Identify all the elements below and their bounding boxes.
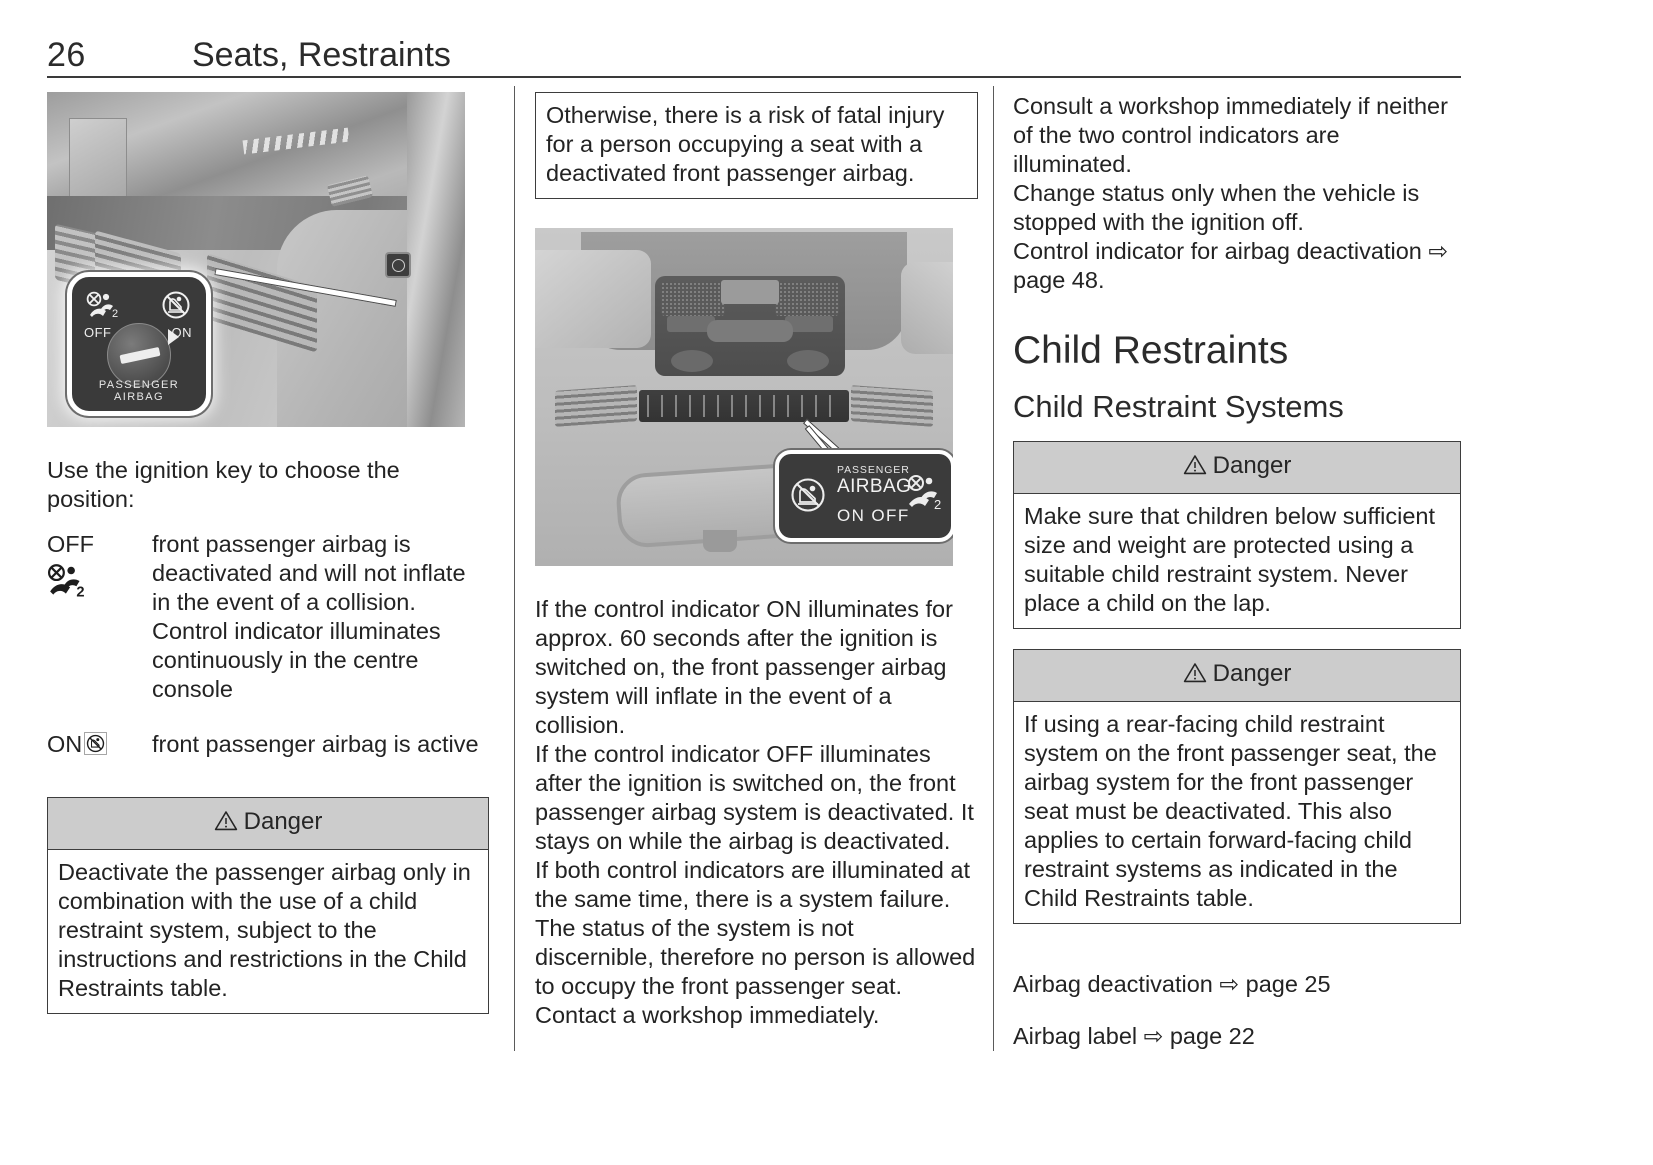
paragraph-indicator-on: If the control indicator ON illuminates … [535, 595, 978, 740]
heading-child-restraint-systems: Child Restraint Systems [1013, 389, 1461, 425]
infotainment-screen [69, 118, 127, 198]
door-pillar [407, 92, 465, 427]
definition-term-off: OFF 2 [47, 530, 152, 606]
danger-header-col3-1: Danger [1014, 442, 1460, 494]
intro-line-2: position: [47, 485, 489, 514]
term-label-on: ON [47, 731, 82, 757]
control-indicator-strip [639, 390, 849, 422]
badge-line-passenger: PASSENGER [837, 464, 910, 476]
definition-term-on: ON [47, 730, 152, 762]
term-label-off: OFF [47, 531, 94, 557]
danger-body-col3-2: If using a rear-facing child restraint s… [1014, 702, 1460, 923]
definition-body-off: front passenger airbag is deactivated an… [152, 530, 489, 704]
page-number: 26 [47, 36, 86, 75]
xref-airbag-label[interactable]: Airbag label ⇨ page 22 [1013, 1022, 1461, 1051]
airbag-key-switch-slot [385, 252, 411, 278]
speaker-mesh-left [661, 282, 725, 316]
heading-child-restraints: Child Restraints [1013, 329, 1461, 373]
callout-passenger-airbag-indicator: 2 PASSENGER AIRBAG ON OFF [775, 450, 953, 542]
console-grille-left [555, 385, 637, 427]
sunroof-switch-panel [721, 280, 779, 304]
spacer [1013, 924, 1461, 946]
paragraph-change-status: Change status only when the vehicle is s… [1013, 179, 1461, 237]
column-divider-1 [514, 86, 515, 1051]
manual-page: 26 Seats, Restraints [0, 0, 1653, 1165]
danger-header-col1: Danger [48, 798, 488, 850]
switch-position-arrow [168, 329, 179, 345]
definition-row-on: ON front passenger airbag is active [47, 730, 489, 762]
intro-line-1: Use the ignition key to choose the [47, 456, 489, 485]
ignition-position-definitions: OFF 2 front passenger airbag is [47, 530, 489, 762]
console-control-panel [655, 276, 845, 376]
light-lens-left [671, 350, 713, 372]
danger-title-col3-2: Danger [1213, 660, 1292, 687]
switch-caption: PASSENGER AIRBAG [72, 379, 206, 403]
spacer [535, 199, 978, 228]
spacer [1013, 629, 1461, 649]
switch-off-label: OFF [84, 325, 112, 340]
definition-row-off: OFF 2 front passenger airbag is [47, 530, 489, 704]
child-seat-prohibited-icon [160, 290, 192, 320]
svg-text:2: 2 [76, 585, 84, 599]
header-rule [47, 76, 1461, 78]
mirror-stem [703, 530, 737, 552]
column-1: 2 OFF ON PASS [47, 92, 489, 1014]
paragraph-indicator-off: If the control indicator OFF illuminates… [535, 740, 978, 856]
warning-box-text: Otherwise, there is a risk of fatal inju… [536, 93, 977, 198]
svg-text:2: 2 [934, 497, 941, 512]
spacer [47, 427, 489, 456]
column-divider-2 [993, 86, 994, 1051]
danger-body-col3-1: Make sure that children below sufficient… [1014, 494, 1460, 628]
figure-overhead-console: 2 PASSENGER AIRBAG ON OFF [535, 228, 953, 566]
warning-triangle-icon [1183, 661, 1207, 691]
spacer [535, 566, 978, 595]
badge-line-airbag: AIRBAG [837, 476, 911, 498]
definition-body-on: front passenger airbag is active [152, 730, 489, 759]
airbag-off-child-icon: 2 [86, 291, 120, 319]
speaker-mesh-right [775, 282, 839, 316]
key-slot-groove [120, 347, 161, 364]
danger-box-col3-2: Danger If using a rear-facing child rest… [1013, 649, 1461, 924]
paragraph-both-indicators: If both control indicators are illuminat… [535, 856, 978, 1030]
switch-dial [107, 323, 171, 387]
danger-box-col3-1: Danger Make sure that children below suf… [1013, 441, 1461, 629]
child-seat-prohibited-icon [84, 732, 107, 762]
column-2: Otherwise, there is a risk of fatal inju… [535, 92, 978, 1030]
figure-dashboard-airbag-switch: 2 OFF ON PASS [47, 92, 465, 427]
warning-box-col2: Otherwise, there is a risk of fatal inju… [535, 92, 978, 199]
xref-airbag-deactivation[interactable]: Airbag deactivation ⇨ page 25 [1013, 970, 1461, 999]
indicator-symbols [647, 395, 841, 417]
danger-body-col1: Deactivate the passenger airbag only in … [48, 850, 488, 1013]
warning-triangle-icon [1183, 453, 1207, 483]
danger-box-col1: Danger Deactivate the passenger airbag o… [47, 797, 489, 1014]
column-3: Consult a workshop immediately if neithe… [1013, 92, 1461, 1075]
light-lens-right [787, 350, 829, 372]
spacer [47, 514, 489, 530]
child-seat-prohibited-icon [789, 476, 827, 514]
paragraph-control-indicator-ref: Control indicator for airbag deactivatio… [1013, 237, 1461, 295]
callout-passenger-airbag-switch: 2 OFF ON PASS [67, 272, 211, 416]
sun-visor-right [901, 262, 953, 354]
airbag-off-child-icon: 2 [47, 563, 152, 606]
spacer [47, 788, 489, 797]
badge-line-on-off: ON OFF [837, 506, 910, 526]
danger-header-col3-2: Danger [1014, 650, 1460, 702]
interior-light-strip [707, 320, 793, 342]
paragraph-consult-workshop: Consult a workshop immediately if neithe… [1013, 92, 1461, 179]
warning-triangle-icon [214, 809, 238, 839]
svg-text:2: 2 [112, 308, 118, 319]
danger-title-col3-1: Danger [1213, 452, 1292, 479]
airbag-off-child-icon: 2 [907, 474, 943, 512]
chapter-title: Seats, Restraints [192, 36, 451, 75]
danger-title-col1: Danger [244, 808, 323, 835]
console-grille-right [851, 385, 933, 427]
sun-visor-left [535, 250, 651, 348]
